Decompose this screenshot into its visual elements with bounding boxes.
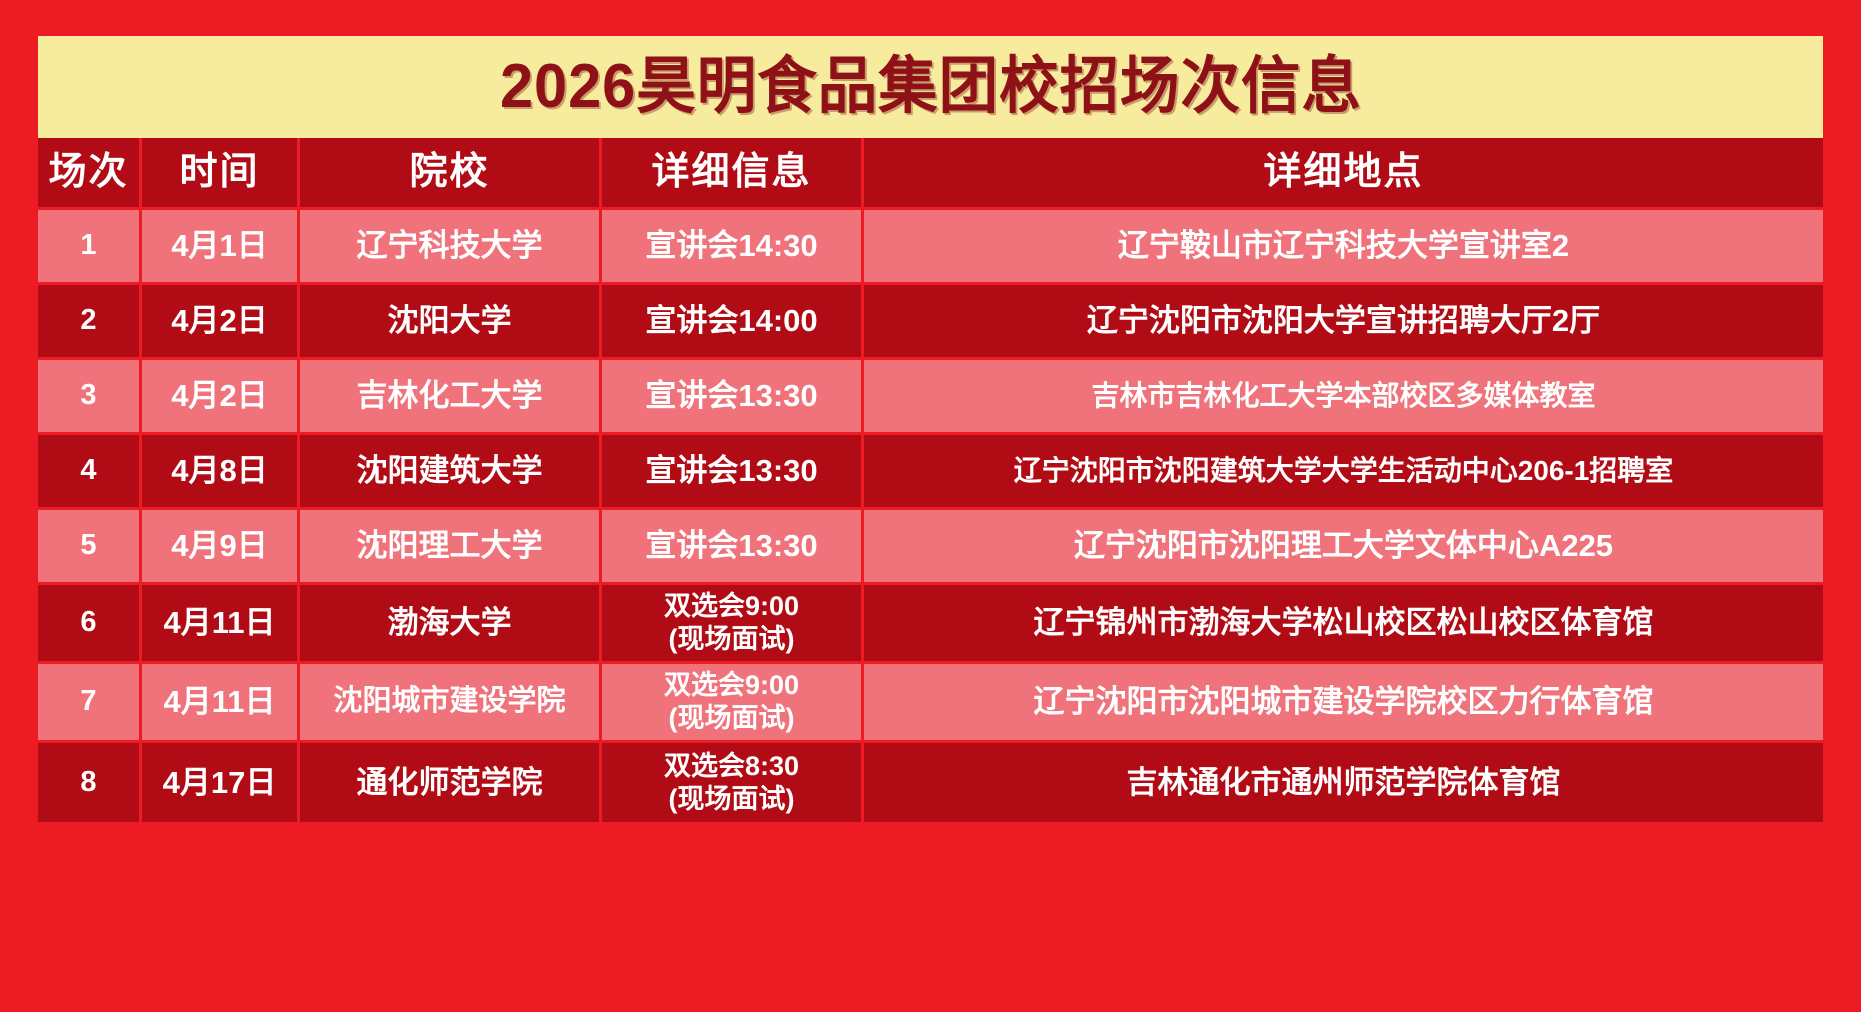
table-row: 5 4月9日 沈阳理工大学 宣讲会13:30 辽宁沈阳市沈阳理工大学文体中心A2…	[38, 510, 1823, 585]
cell-details: 宣讲会13:30	[602, 435, 864, 507]
cell-location: 辽宁沈阳市沈阳城市建设学院校区力行体育馆	[864, 664, 1823, 740]
cell-details-line2: (现场面试)	[669, 783, 795, 816]
cell-time: 4月2日	[142, 285, 300, 357]
cell-details-line1: 双选会9:00	[664, 590, 799, 623]
cell-details: 宣讲会13:30	[602, 360, 864, 432]
cell-time: 4月2日	[142, 360, 300, 432]
table-row: 4 4月8日 沈阳建筑大学 宣讲会13:30 辽宁沈阳市沈阳建筑大学大学生活动中…	[38, 435, 1823, 510]
column-header-time: 时间	[142, 138, 300, 207]
cell-time: 4月11日	[142, 585, 300, 661]
cell-time: 4月9日	[142, 510, 300, 582]
cell-location: 吉林市吉林化工大学本部校区多媒体教室	[864, 360, 1823, 432]
cell-session: 6	[38, 585, 142, 661]
schedule-table: 场次 时间 院校 详细信息 详细地点 1 4月1日 辽宁科技大学 宣讲会14:3…	[38, 138, 1823, 976]
cell-details: 宣讲会13:30	[602, 510, 864, 582]
table-row: 6 4月11日 渤海大学 双选会9:00 (现场面试) 辽宁锦州市渤海大学松山校…	[38, 585, 1823, 664]
cell-time: 4月1日	[142, 210, 300, 282]
cell-details-line1: 双选会9:00	[664, 669, 799, 702]
recruitment-poster: 2026昊明食品集团校招场次信息 场次 时间 院校 详细信息 详细地点 1 4月…	[0, 0, 1861, 1012]
title-banner: 2026昊明食品集团校招场次信息	[38, 36, 1823, 138]
cell-time: 4月11日	[142, 664, 300, 740]
table-row: 3 4月2日 吉林化工大学 宣讲会13:30 吉林市吉林化工大学本部校区多媒体教…	[38, 360, 1823, 435]
page-title: 2026昊明食品集团校招场次信息	[499, 56, 1361, 118]
cell-session: 1	[38, 210, 142, 282]
table-row: 1 4月1日 辽宁科技大学 宣讲会14:30 辽宁鞍山市辽宁科技大学宣讲室2	[38, 210, 1823, 285]
cell-school: 沈阳建筑大学	[300, 435, 602, 507]
cell-location: 辽宁沈阳市沈阳建筑大学大学生活动中心206-1招聘室	[864, 435, 1823, 507]
column-header-location: 详细地点	[864, 138, 1823, 207]
table-row: 2 4月2日 沈阳大学 宣讲会14:00 辽宁沈阳市沈阳大学宣讲招聘大厅2厅	[38, 285, 1823, 360]
cell-location: 辽宁沈阳市沈阳大学宣讲招聘大厅2厅	[864, 285, 1823, 357]
cell-school: 沈阳理工大学	[300, 510, 602, 582]
cell-session: 8	[38, 743, 142, 822]
cell-school: 渤海大学	[300, 585, 602, 661]
cell-details: 宣讲会14:30	[602, 210, 864, 282]
cell-session: 3	[38, 360, 142, 432]
cell-session: 7	[38, 664, 142, 740]
cell-details: 双选会8:30 (现场面试)	[602, 743, 864, 822]
column-header-school: 院校	[300, 138, 602, 207]
cell-school: 沈阳城市建设学院	[300, 664, 602, 740]
cell-location: 辽宁锦州市渤海大学松山校区松山校区体育馆	[864, 585, 1823, 661]
cell-details: 双选会9:00 (现场面试)	[602, 585, 864, 661]
table-header-row: 场次 时间 院校 详细信息 详细地点	[38, 138, 1823, 210]
cell-details-line2: (现场面试)	[669, 702, 795, 735]
cell-school: 通化师范学院	[300, 743, 602, 822]
column-header-details: 详细信息	[602, 138, 864, 207]
cell-school: 辽宁科技大学	[300, 210, 602, 282]
table-row: 8 4月17日 通化师范学院 双选会8:30 (现场面试) 吉林通化市通州师范学…	[38, 743, 1823, 822]
cell-details: 宣讲会14:00	[602, 285, 864, 357]
column-header-session: 场次	[38, 138, 142, 207]
cell-time: 4月8日	[142, 435, 300, 507]
table-row: 7 4月11日 沈阳城市建设学院 双选会9:00 (现场面试) 辽宁沈阳市沈阳城…	[38, 664, 1823, 743]
cell-details-line1: 双选会8:30	[664, 750, 799, 783]
cell-details-line2: (现场面试)	[669, 623, 795, 656]
cell-details: 双选会9:00 (现场面试)	[602, 664, 864, 740]
cell-session: 2	[38, 285, 142, 357]
cell-session: 4	[38, 435, 142, 507]
cell-location: 辽宁鞍山市辽宁科技大学宣讲室2	[864, 210, 1823, 282]
cell-session: 5	[38, 510, 142, 582]
cell-time: 4月17日	[142, 743, 300, 822]
cell-school: 沈阳大学	[300, 285, 602, 357]
cell-location: 吉林通化市通州师范学院体育馆	[864, 743, 1823, 822]
cell-school: 吉林化工大学	[300, 360, 602, 432]
cell-location: 辽宁沈阳市沈阳理工大学文体中心A225	[864, 510, 1823, 582]
